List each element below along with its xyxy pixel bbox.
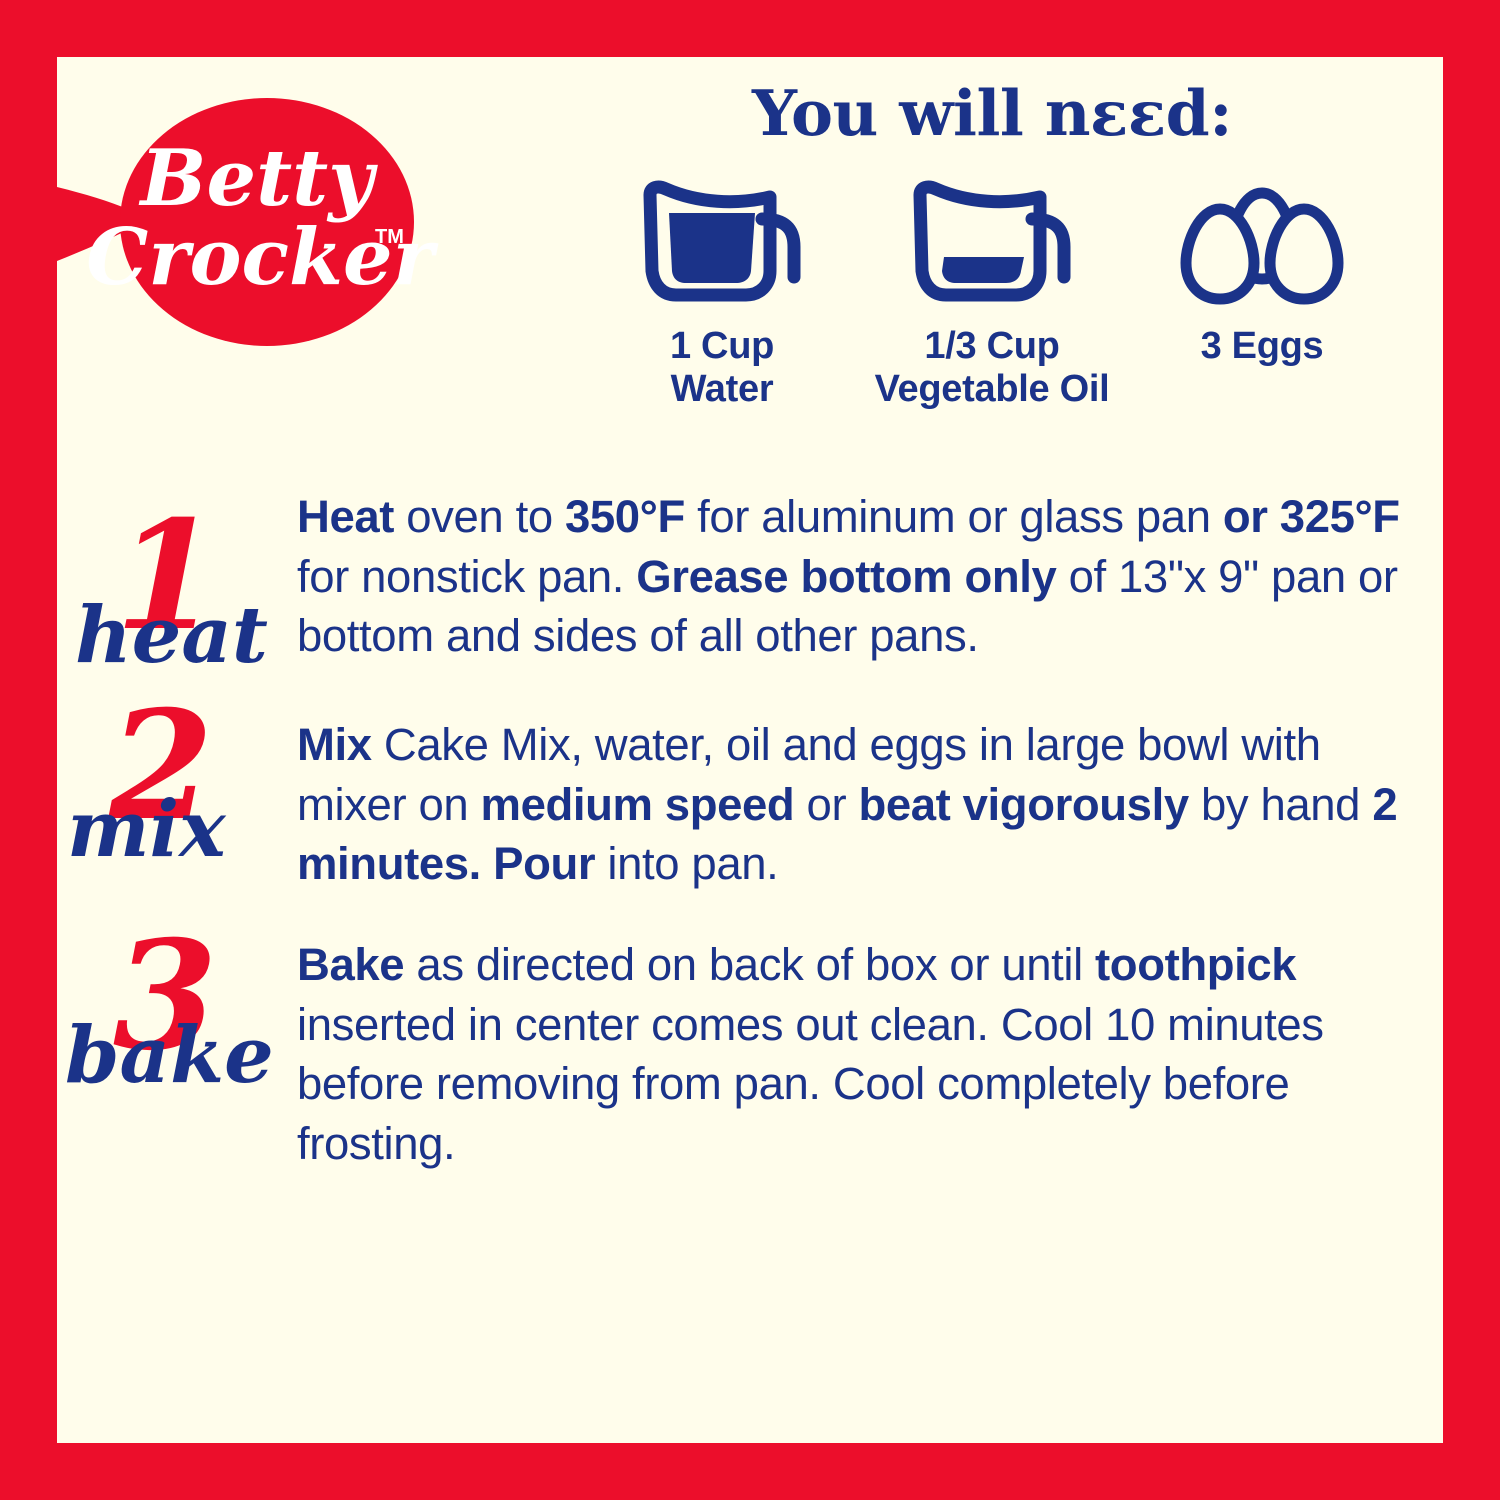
step-1-text: Heat oven to 350°F for aluminum or glass… <box>297 487 1443 666</box>
ingredient-water-label: 1 Cup Water <box>587 325 857 410</box>
ingredient-oil-label: 1/3 Cup Vegetable Oil <box>857 325 1127 410</box>
step-2-marker: 2 mix <box>57 715 297 905</box>
ingredients-row: 1 Cup Water 1/3 Cu <box>567 171 1417 410</box>
trademark-symbol: TM <box>375 226 404 248</box>
step-2-text: Mix Cake Mix, water, oil and eggs in lar… <box>297 715 1443 894</box>
step-1-marker: 1 heat <box>57 487 297 677</box>
package-panel: Betty Crocker TM You will nɛɛd: <box>0 0 1500 1500</box>
recipe-card: Betty Crocker TM You will nɛɛd: <box>57 57 1443 1443</box>
step-1: 1 heat Heat oven to 350°F for aluminum o… <box>57 487 1443 677</box>
step-3-marker: 3 bake <box>57 935 297 1125</box>
three-eggs-icon <box>1127 171 1397 311</box>
spoon-oval-logo: Betty Crocker TM <box>57 79 477 369</box>
ingredients-heading: You will nɛɛd: <box>567 82 1417 145</box>
step-3-word: bake <box>65 1017 274 1095</box>
step-3-text: Bake as directed on back of box or until… <box>297 935 1443 1173</box>
betty-crocker-logo: Betty Crocker TM <box>57 79 477 369</box>
measuring-cup-third-icon <box>857 171 1127 311</box>
brand-name-line1: Betty <box>139 133 379 224</box>
ingredient-oil-name: Vegetable Oil <box>857 368 1127 411</box>
ingredient-water-name: Water <box>587 368 857 411</box>
step-3: 3 bake Bake as directed on back of box o… <box>57 935 1443 1173</box>
step-1-word: heat <box>75 597 268 675</box>
ingredient-oil: 1/3 Cup Vegetable Oil <box>857 171 1127 410</box>
measuring-cup-full-icon <box>587 171 857 311</box>
ingredients-section: You will nɛɛd: <box>567 82 1417 410</box>
step-2-word: mix <box>67 791 226 869</box>
ingredient-water-amount: 1 Cup <box>587 325 857 368</box>
instruction-steps: 1 heat Heat oven to 350°F for aluminum o… <box>57 487 1443 1195</box>
step-2: 2 mix Mix Cake Mix, water, oil and eggs … <box>57 715 1443 905</box>
ingredient-water: 1 Cup Water <box>587 171 857 410</box>
ingredient-oil-amount: 1/3 Cup <box>857 325 1127 368</box>
ingredient-eggs-amount: 3 Eggs <box>1127 325 1397 368</box>
ingredient-eggs: 3 Eggs <box>1127 171 1397 368</box>
ingredient-eggs-label: 3 Eggs <box>1127 325 1397 368</box>
